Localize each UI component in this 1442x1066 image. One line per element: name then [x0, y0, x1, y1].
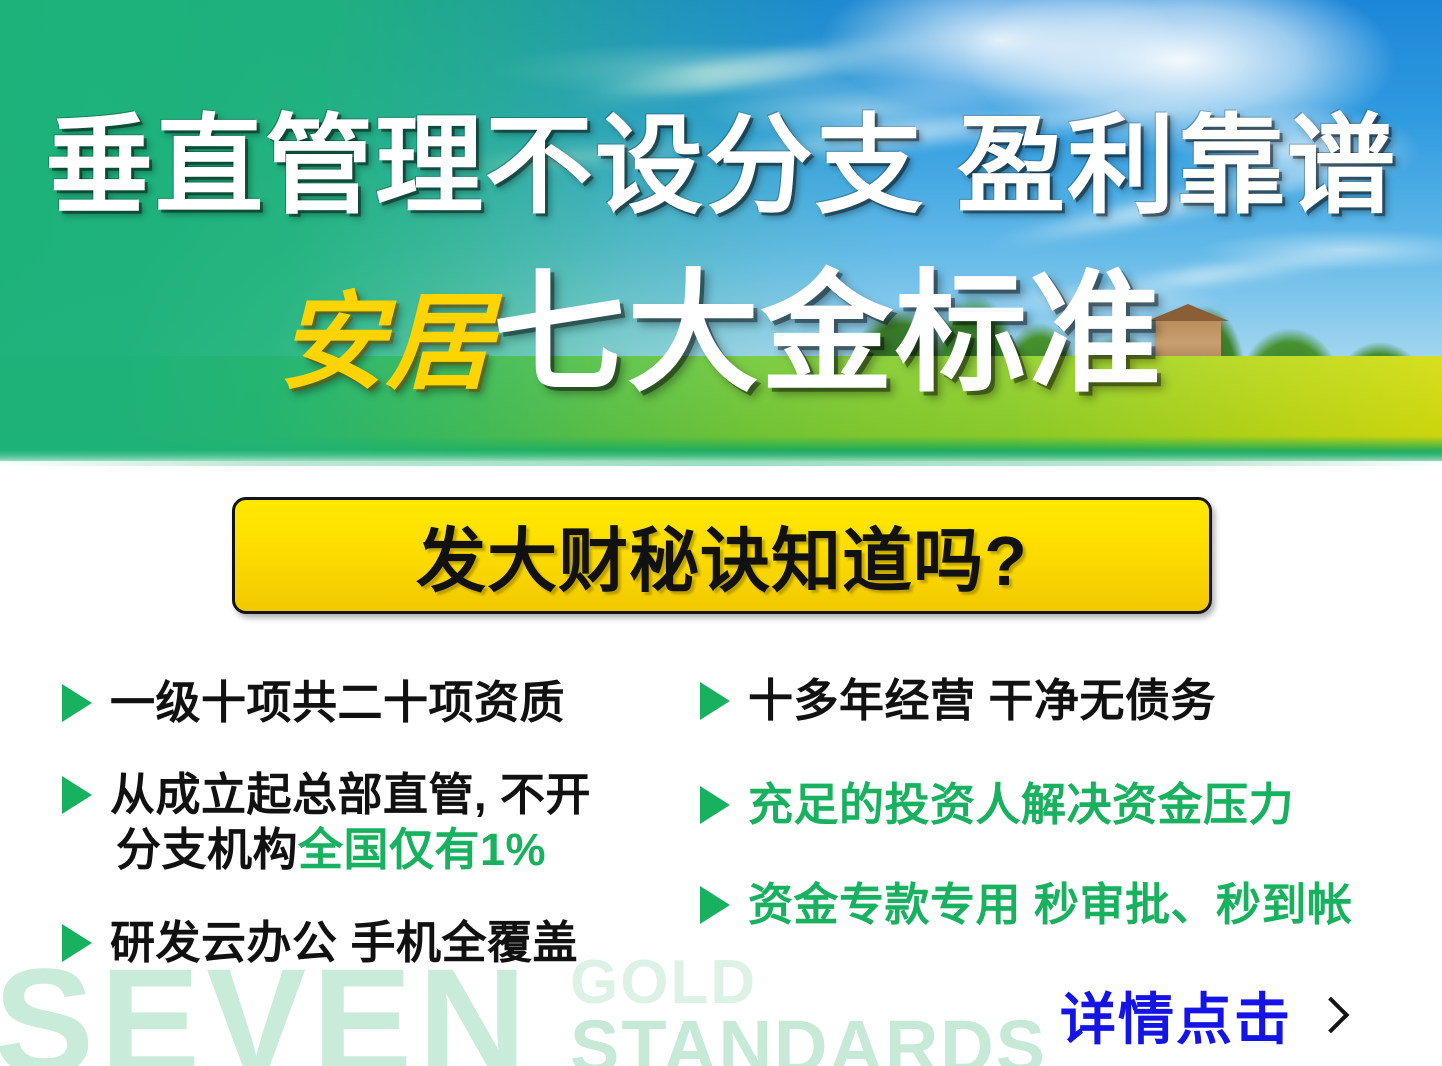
- triangle-bullet-icon: [700, 682, 730, 720]
- feature-item: 研发云办公 手机全覆盖: [62, 916, 578, 971]
- details-cta-button[interactable]: 详情点击: [1060, 975, 1342, 1056]
- callout-banner[interactable]: 发大财秘诀知道吗?: [232, 497, 1212, 614]
- triangle-bullet-icon: [700, 886, 730, 924]
- hero-edge-highlight: [0, 461, 1442, 466]
- feature-line-segment: 分支机构: [116, 824, 298, 875]
- feature-list: 一级十项共二十项资质 从成立起总部直管, 不开 分支机构全国仅有1% 研发云办公…: [0, 660, 1442, 990]
- triangle-bullet-icon: [62, 924, 92, 962]
- feature-line: 充足的投资人解决资金压力: [748, 778, 1294, 833]
- feature-item: 资金专款专用 秒审批、秒到帐: [700, 878, 1353, 933]
- triangle-bullet-icon: [700, 786, 730, 824]
- feature-item: 十多年经营 干净无债务: [700, 674, 1216, 729]
- cta-label: 详情点击: [1060, 975, 1292, 1056]
- feature-text: 研发云办公 手机全覆盖: [110, 916, 578, 971]
- feature-line: 一级十项共二十项资质: [110, 676, 565, 731]
- triangle-bullet-icon: [62, 684, 92, 722]
- feature-line: 资金专款专用 秒审批、秒到帐: [748, 878, 1353, 933]
- feature-text: 充足的投资人解决资金压力: [748, 778, 1294, 833]
- headline-seven-gold-standards: 七大金标准: [493, 260, 1163, 407]
- chevron-right-icon: [1316, 996, 1342, 1036]
- feature-text: 一级十项共二十项资质: [110, 676, 565, 731]
- feature-text: 十多年经营 干净无债务: [748, 674, 1216, 729]
- feature-item: 从成立起总部直管, 不开 分支机构全国仅有1%: [62, 768, 591, 878]
- triangle-bullet-icon: [62, 776, 92, 814]
- feature-line: 十多年经营 干净无债务: [748, 674, 1216, 729]
- callout-text: 发大财秘诀知道吗?: [416, 505, 1028, 606]
- watermark-standards: STANDARDS: [570, 1010, 1047, 1066]
- brand-name-anju: 安居: [279, 284, 493, 402]
- feature-item: 充足的投资人解决资金压力: [700, 778, 1294, 833]
- headline-primary: 垂直管理不设分支 盈利靠谱: [0, 112, 1442, 220]
- feature-line: 研发云办公 手机全覆盖: [110, 916, 578, 971]
- feature-line: 分支机构全国仅有1%: [110, 823, 591, 878]
- advertisement-banner: 垂直管理不设分支 盈利靠谱 安居七大金标准 发大财秘诀知道吗? SEVEN GO…: [0, 0, 1442, 1066]
- feature-line: 从成立起总部直管, 不开: [110, 768, 591, 823]
- feature-text: 资金专款专用 秒审批、秒到帐: [748, 878, 1353, 933]
- feature-text: 从成立起总部直管, 不开 分支机构全国仅有1%: [110, 768, 591, 878]
- feature-line-highlight: 全国仅有1%: [298, 824, 546, 875]
- feature-item: 一级十项共二十项资质: [62, 676, 565, 731]
- headline-secondary: 安居七大金标准: [0, 268, 1442, 400]
